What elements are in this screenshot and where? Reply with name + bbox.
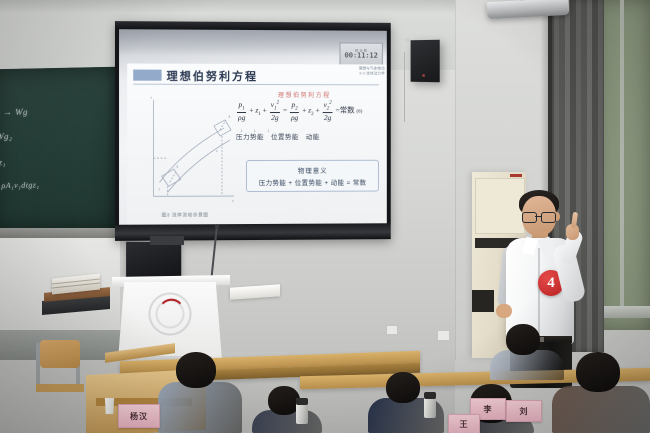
badge-number: 4 — [547, 276, 555, 291]
eq-term-p2: p2 ρg — [290, 100, 299, 121]
wall-outlet-icon[interactable] — [437, 330, 450, 341]
slide-corner-line2: 3-3 流体动力学 — [359, 72, 385, 77]
eq-plus-4: + — [315, 106, 319, 115]
eq-term-p1: p1 ρg — [237, 100, 246, 122]
eq-ref: (6) — [356, 110, 362, 115]
name-placard-text: 李 — [484, 404, 493, 415]
projection-screen: 时 分 秒 00:11:12 理想伯努利方程 理想与气体物动 3-3 流体动力学 — [115, 21, 391, 241]
glasses-icon — [522, 212, 556, 221]
equation-heading: 理想伯努利方程 — [278, 90, 331, 99]
slide-title: 理想伯努利方程 — [167, 68, 258, 84]
eq-equals: = — [283, 106, 287, 115]
eq-term-v1: v12 2g — [270, 100, 280, 121]
svg-text:z: z — [158, 186, 161, 191]
svg-text:x: x — [231, 198, 234, 203]
name-placard-text: 杨汉 — [130, 411, 148, 422]
audience-head — [576, 352, 620, 392]
window-mullion — [620, 0, 624, 312]
eq-plus-3: + — [302, 106, 306, 115]
eq-plus-1: + — [249, 105, 253, 114]
audience-body — [158, 382, 242, 433]
presenter: 4 — [492, 186, 588, 376]
meaning-text: 压力势能 + 位置势能 + 动能 = 常数 — [259, 177, 367, 187]
window-sill — [596, 306, 650, 318]
audience-body — [552, 386, 650, 433]
name-placard-text: 刘 — [520, 406, 529, 417]
name-placard-text: 王 — [460, 419, 469, 430]
shirt-placket — [538, 248, 540, 340]
svg-text:z: z — [215, 148, 218, 153]
term-label-pressure: 压力势能 — [236, 134, 264, 141]
chair-seat — [36, 384, 84, 392]
slide-corner-header: 理想与气体物动 3-3 流体动力学 — [359, 66, 385, 77]
term-label-kinetic: 动能 — [306, 134, 320, 141]
podium-monitor — [126, 242, 181, 280]
microphone-icon — [215, 224, 219, 229]
presenter-left-hand — [496, 304, 512, 318]
audience-head — [386, 372, 420, 403]
slide-title-chip — [133, 70, 161, 81]
ac-brand-logo — [510, 174, 522, 177]
thermos-bottle-2 — [424, 392, 436, 418]
svg-text:A: A — [227, 114, 231, 119]
figure-caption: 图3 流体流动示意图 — [162, 212, 209, 218]
slide: 理想伯努利方程 理想与气体物动 3-3 流体动力学 — [127, 63, 387, 224]
equation-term-labels: 压力势能 位置势能 动能 — [236, 134, 326, 141]
audience-head — [176, 352, 216, 388]
svg-text:A: A — [175, 164, 179, 169]
chalk-line-4: ρA₁v₁dt + ρA₁v₁dtgz₁ — [0, 180, 39, 191]
thermos-cap-1 — [296, 398, 308, 405]
meaning-title: 物理意义 — [298, 165, 328, 175]
window-frame — [598, 0, 650, 330]
bernoulli-equation: p1 ρg + z1 + v12 2g = p2 ρg + — [236, 100, 385, 126]
monitor-hood — [150, 236, 184, 245]
name-placard: 杨汉 — [118, 404, 160, 428]
wall-outlet-2-icon[interactable] — [386, 325, 398, 335]
chalk-line-1: Wp : G → Wg — [0, 107, 28, 118]
paper-cup — [104, 398, 115, 414]
screen-surface: 时 分 秒 00:11:12 理想伯努利方程 理想与气体物动 3-3 流体动力学 — [119, 29, 387, 225]
wall-speaker-icon — [411, 40, 440, 83]
classroom-photo: Wp : G → Wg Wp₁ + Wg₂ S + mgz₁ ρA₁v₁dt +… — [0, 0, 650, 433]
wall-seam — [455, 0, 456, 360]
term-label-position: 位置势能 — [271, 134, 299, 141]
blackboard: Wp : G → Wg Wp₁ + Wg₂ S + mgz₁ ρA₁v₁dt +… — [0, 67, 119, 232]
audience-head — [506, 324, 540, 355]
blackboard-frame — [0, 228, 116, 238]
chair-back — [40, 340, 80, 368]
presentation-timer: 时 分 秒 00:11:12 — [339, 42, 382, 66]
chalk-line-3: S + mgz₁ — [0, 157, 6, 168]
name-placard: 王 — [448, 414, 480, 433]
eq-tail: =常数 — [336, 106, 355, 115]
emblem-mark-icon: ⌒ — [162, 300, 180, 320]
eq-plus-2: + — [263, 105, 267, 114]
eq-term-v2: v22 2g — [322, 100, 332, 121]
fluid-flow-diagram: zx AA zz — [145, 96, 238, 209]
wall-sensor-icon — [405, 38, 410, 42]
thermos-cap-2 — [424, 392, 436, 399]
physical-meaning-box: 物理意义 压力势能 + 位置势能 + 动能 = 常数 — [246, 160, 379, 192]
slide-titlebar: 理想伯努利方程 — [133, 68, 379, 86]
classroom-chair[interactable] — [30, 340, 84, 402]
svg-text:z: z — [149, 96, 152, 100]
timer-value: 00:11:12 — [345, 52, 378, 60]
chalk-line-2: Wp₁ + Wg₂ — [0, 131, 12, 142]
ac-lower-vent-icon — [472, 290, 494, 312]
name-placard: 刘 — [506, 400, 542, 422]
speaker-led-icon — [422, 74, 425, 77]
speaker-wire — [404, 52, 405, 122]
thermos-bottle-1 — [296, 398, 308, 424]
